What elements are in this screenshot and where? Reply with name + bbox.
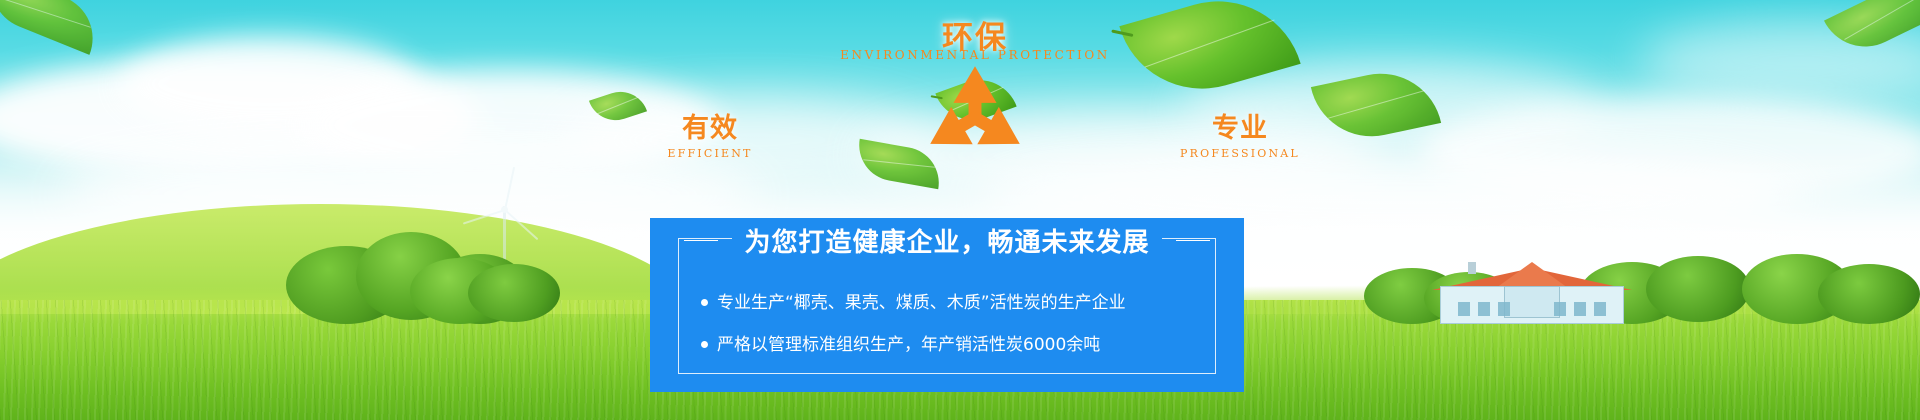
promo-panel: 为您打造健康企业，畅通未来发展 专业生产“椰壳、果壳、煤质、木质”活性炭的生产企…: [650, 218, 1244, 392]
headline-rule-right: [1176, 240, 1210, 241]
eco-logo-group: 环保 ENVIRONMENTAL PROTECTION 有效 EFFICIENT…: [760, 6, 1190, 176]
bullet-dot-icon: [701, 299, 708, 306]
leaf-icon: [0, 0, 106, 55]
logo-label-professional-cn: 专业: [1180, 106, 1300, 145]
logo-title-en: ENVIRONMENTAL PROTECTION: [760, 48, 1190, 62]
list-item: 严格以管理标准组织生产，年产销活性炭6000余吨: [701, 333, 1201, 359]
hero-banner: 环保 ENVIRONMENTAL PROTECTION 有效 EFFICIENT…: [0, 0, 1920, 420]
promo-headline: 为您打造健康企业，畅通未来发展: [732, 222, 1161, 259]
promo-headline-row: 为您打造健康企业，畅通未来发展: [679, 223, 1215, 257]
logo-label-efficient: 有效 EFFICIENT: [650, 106, 770, 160]
headline-rule-left: [684, 240, 718, 241]
tree-cluster: [1742, 246, 1920, 324]
logo-label-professional-en: PROFESSIONAL: [1180, 147, 1300, 160]
recycle-icon: [900, 62, 1050, 179]
house-illustration: [1432, 258, 1632, 324]
logo-label-efficient-en: EFFICIENT: [650, 147, 770, 160]
logo-label-professional: 专业 PROFESSIONAL: [1180, 106, 1300, 160]
logo-label-efficient-cn: 有效: [650, 106, 770, 145]
tree-cluster: [410, 250, 560, 324]
list-item: 专业生产“椰壳、果壳、煤质、木质”活性炭的生产企业: [701, 291, 1201, 317]
promo-panel-frame: 为您打造健康企业，畅通未来发展 专业生产“椰壳、果壳、煤质、木质”活性炭的生产企…: [678, 238, 1216, 374]
bullet-dot-icon: [701, 341, 708, 348]
list-item-text: 严格以管理标准组织生产，年产销活性炭6000余吨: [717, 333, 1100, 359]
list-item-text: 专业生产“椰壳、果壳、煤质、木质”活性炭的生产企业: [717, 291, 1126, 317]
promo-bullet-list: 专业生产“椰壳、果壳、煤质、木质”活性炭的生产企业 严格以管理标准组织生产，年产…: [701, 291, 1201, 374]
